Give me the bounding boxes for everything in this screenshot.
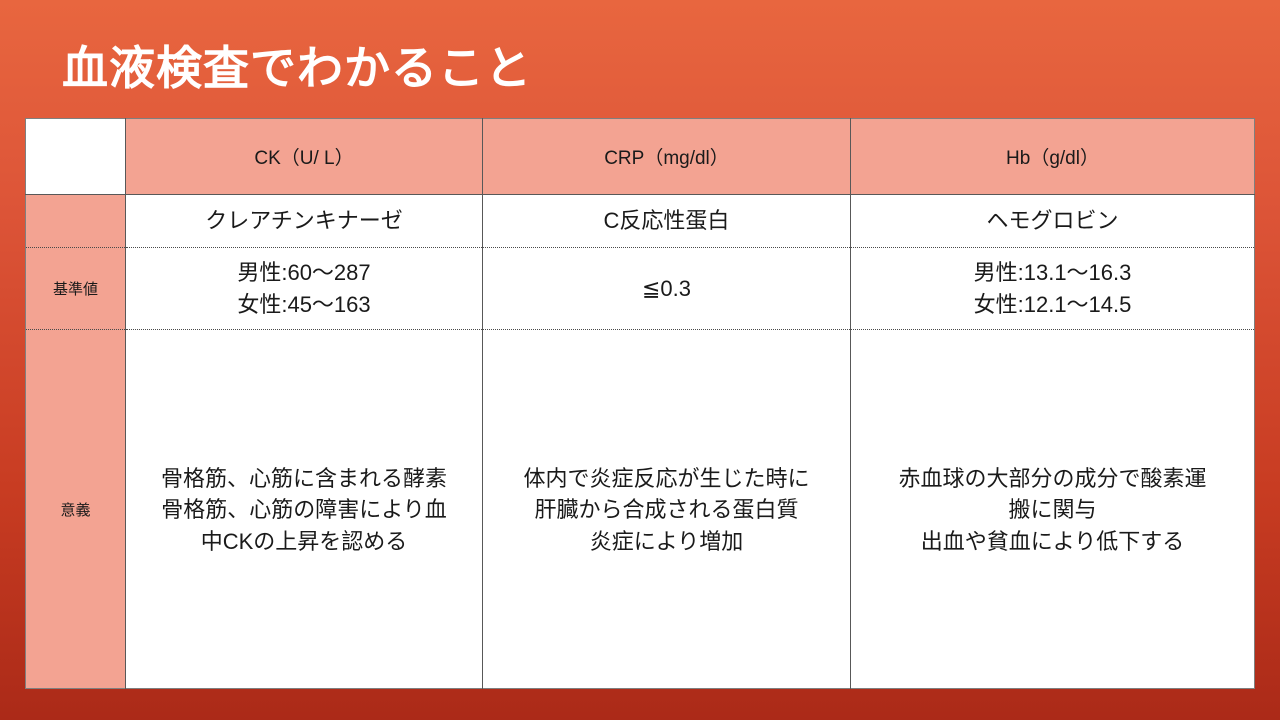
cell-line: 骨格筋、心筋の障害により血 bbox=[126, 494, 482, 525]
cell-line: 女性:12.1〜14.5 bbox=[851, 289, 1254, 320]
cell-meaning-crp: 体内で炎症反応が生じた時に 肝臓から合成される蛋白質 炎症により増加 bbox=[483, 330, 851, 689]
cell-reference-hb: 男性:13.1〜16.3 女性:12.1〜14.5 bbox=[851, 248, 1255, 330]
cell-line: 男性:13.1〜16.3 bbox=[851, 257, 1254, 288]
column-header-ck: CK（U/ L） bbox=[126, 119, 483, 195]
cell-name-crp: C反応性蛋白 bbox=[483, 195, 851, 248]
row-label-reference: 基準値 bbox=[26, 248, 126, 330]
slide-canvas: 血液検査でわかること CK（U/ L） CRP（mg/dl） Hb（g/dl） … bbox=[0, 0, 1280, 720]
column-header-hb: Hb（g/dl） bbox=[851, 119, 1255, 195]
cell-line: ≦0.3 bbox=[483, 273, 850, 304]
cell-name-hb: ヘモグロビン bbox=[851, 195, 1255, 248]
cell-line: 中CKの上昇を認める bbox=[126, 526, 482, 557]
cell-reference-ck: 男性:60〜287 女性:45〜163 bbox=[126, 248, 483, 330]
cell-line: クレアチンキナーゼ bbox=[126, 205, 482, 236]
cell-lines: クレアチンキナーゼ bbox=[126, 205, 482, 236]
cell-lines: 赤血球の大部分の成分で酸素運 搬に関与 出血や貧血により低下する bbox=[851, 461, 1254, 557]
table-row: 意義 骨格筋、心筋に含まれる酵素 骨格筋、心筋の障害により血 中CKの上昇を認め… bbox=[26, 330, 1255, 689]
cell-line: 出血や貧血により低下する bbox=[851, 526, 1254, 557]
cell-line: 赤血球の大部分の成分で酸素運 bbox=[851, 463, 1254, 494]
cell-line: C反応性蛋白 bbox=[483, 205, 850, 236]
column-header-crp: CRP（mg/dl） bbox=[483, 119, 851, 195]
cell-line: 骨格筋、心筋に含まれる酵素 bbox=[126, 463, 482, 494]
table-row: 基準値 男性:60〜287 女性:45〜163 ≦0.3 男性:13.1〜16.… bbox=[26, 248, 1255, 330]
cell-meaning-hb: 赤血球の大部分の成分で酸素運 搬に関与 出血や貧血により低下する bbox=[851, 330, 1255, 689]
page-title: 血液検査でわかること bbox=[62, 43, 532, 94]
table-corner-cell bbox=[26, 119, 126, 195]
cell-name-ck: クレアチンキナーゼ bbox=[126, 195, 483, 248]
cell-lines: ヘモグロビン bbox=[851, 205, 1254, 236]
cell-lines: 骨格筋、心筋に含まれる酵素 骨格筋、心筋の障害により血 中CKの上昇を認める bbox=[126, 461, 482, 557]
cell-meaning-ck: 骨格筋、心筋に含まれる酵素 骨格筋、心筋の障害により血 中CKの上昇を認める bbox=[126, 330, 483, 689]
cell-reference-crp: ≦0.3 bbox=[483, 248, 851, 330]
table-header-row: CK（U/ L） CRP（mg/dl） Hb（g/dl） bbox=[26, 119, 1255, 195]
blood-test-table: CK（U/ L） CRP（mg/dl） Hb（g/dl） クレアチンキナーゼ C… bbox=[25, 118, 1255, 689]
cell-line: 体内で炎症反応が生じた時に bbox=[483, 463, 850, 494]
cell-lines: ≦0.3 bbox=[483, 273, 850, 304]
cell-line: 搬に関与 bbox=[851, 494, 1254, 525]
table-row: クレアチンキナーゼ C反応性蛋白 ヘモグロビン bbox=[26, 195, 1255, 248]
cell-line: ヘモグロビン bbox=[851, 205, 1254, 236]
cell-line: 男性:60〜287 bbox=[126, 257, 482, 288]
cell-line: 女性:45〜163 bbox=[126, 289, 482, 320]
cell-lines: 体内で炎症反応が生じた時に 肝臓から合成される蛋白質 炎症により増加 bbox=[483, 461, 850, 557]
cell-lines: 男性:60〜287 女性:45〜163 bbox=[126, 257, 482, 319]
cell-line: 肝臓から合成される蛋白質 bbox=[483, 494, 850, 525]
cell-line: 炎症により増加 bbox=[483, 526, 850, 557]
cell-lines: C反応性蛋白 bbox=[483, 205, 850, 236]
row-label-name bbox=[26, 195, 126, 248]
row-label-meaning: 意義 bbox=[26, 330, 126, 689]
cell-lines: 男性:13.1〜16.3 女性:12.1〜14.5 bbox=[851, 257, 1254, 319]
